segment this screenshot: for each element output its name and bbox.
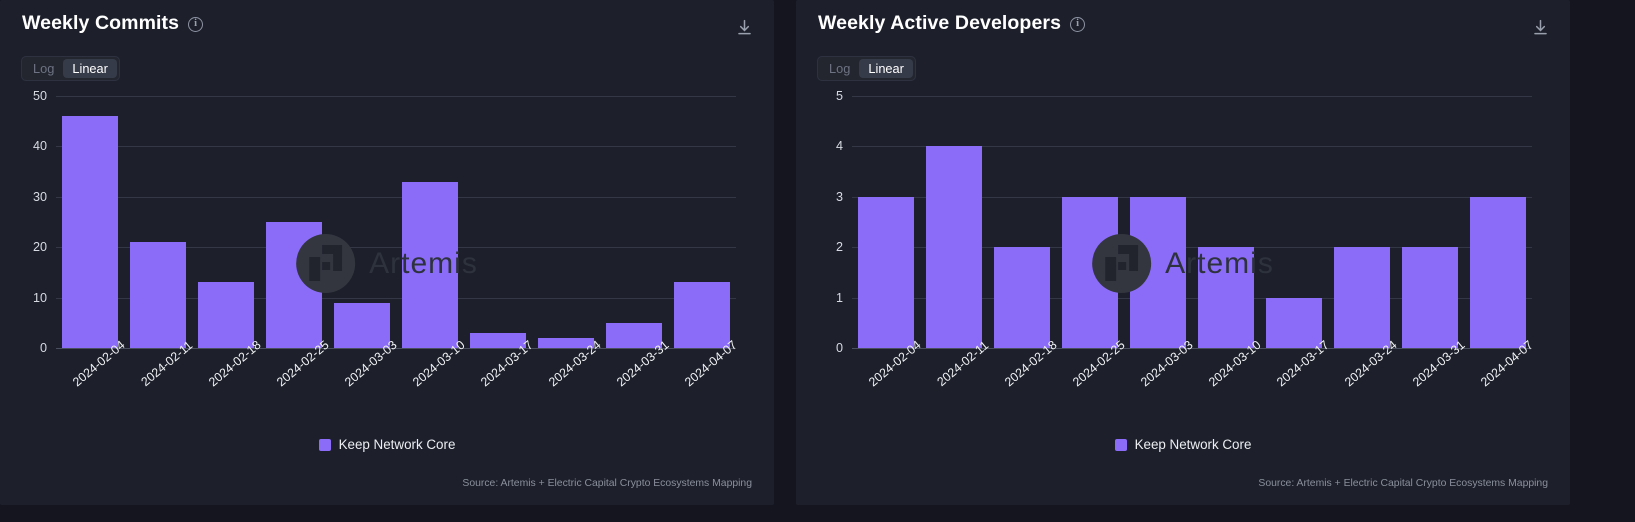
page-title: Weekly Commits (22, 12, 179, 35)
y-axis-tick-label: 30 (33, 190, 47, 204)
bar[interactable] (1334, 247, 1389, 348)
chart-panel-weekly-active-developers: Weekly Active Developers i Log Linear 01… (796, 0, 1570, 505)
x-axis-label-slot: 2024-02-11 (920, 350, 988, 422)
bar[interactable] (926, 146, 981, 348)
y-axis-tick-label: 3 (836, 190, 843, 204)
dashboard-panels: Weekly Commits i Log Linear 01020304050 (0, 0, 1635, 522)
legend-swatch (319, 439, 331, 451)
x-axis-label-slot: 2024-03-10 (1192, 350, 1260, 422)
panel-header: Weekly Commits i (22, 12, 756, 42)
bar-slot[interactable] (532, 96, 600, 348)
grid-and-bars (852, 96, 1532, 348)
y-axis: 012345 (796, 96, 852, 348)
bar[interactable] (402, 182, 457, 348)
info-icon[interactable]: i (188, 17, 203, 32)
bar[interactable] (62, 116, 117, 348)
y-axis-tick-label: 2 (836, 240, 843, 254)
scale-option-log[interactable]: Log (24, 59, 63, 78)
y-axis-tick-label: 50 (33, 89, 47, 103)
x-axis-label-slot: 2024-04-07 (1464, 350, 1532, 422)
y-axis-tick-label: 4 (836, 139, 843, 153)
bar-slot[interactable] (1124, 96, 1192, 348)
bar-slot[interactable] (1260, 96, 1328, 348)
x-axis-labels: 2024-02-042024-02-112024-02-182024-02-25… (56, 350, 736, 422)
x-axis-label-slot: 2024-04-07 (668, 350, 736, 422)
x-axis-label-slot: 2024-03-31 (1396, 350, 1464, 422)
y-axis-tick-label: 0 (40, 341, 47, 355)
scale-toggle-group[interactable]: Log Linear (21, 56, 120, 81)
x-axis-label-slot: 2024-02-04 (56, 350, 124, 422)
bar-slot[interactable] (396, 96, 464, 348)
bar-slot[interactable] (56, 96, 124, 348)
x-axis-label-slot: 2024-02-18 (988, 350, 1056, 422)
bar-slot[interactable] (668, 96, 736, 348)
bar[interactable] (334, 303, 389, 348)
bar[interactable] (1062, 197, 1117, 348)
x-axis-label-slot: 2024-03-31 (600, 350, 668, 422)
legend: Keep Network Core (0, 437, 774, 452)
bar-slot[interactable] (1056, 96, 1124, 348)
bar-slot[interactable] (1328, 96, 1396, 348)
info-icon[interactable]: i (1070, 17, 1085, 32)
bar[interactable] (1130, 197, 1185, 348)
download-icon[interactable] (732, 15, 756, 39)
plot-area: 01020304050 Artemis (0, 96, 774, 348)
bar-slot[interactable] (328, 96, 396, 348)
bar-slot[interactable] (988, 96, 1056, 348)
x-axis-label-slot: 2024-02-11 (124, 350, 192, 422)
bar[interactable] (1470, 197, 1525, 348)
x-axis-label-slot: 2024-03-17 (464, 350, 532, 422)
bar[interactable] (198, 282, 253, 348)
bar-series (56, 96, 736, 348)
bar-series (852, 96, 1532, 348)
bar-slot[interactable] (852, 96, 920, 348)
scale-option-linear[interactable]: Linear (63, 59, 117, 78)
bar-slot[interactable] (920, 96, 988, 348)
x-axis-label-slot: 2024-02-25 (260, 350, 328, 422)
bar[interactable] (994, 247, 1049, 348)
plot-area: 012345 Artemis (796, 96, 1570, 348)
grid-and-bars (56, 96, 736, 348)
legend-item-label[interactable]: Keep Network Core (339, 437, 456, 452)
bar-slot[interactable] (1396, 96, 1464, 348)
y-axis: 01020304050 (0, 96, 56, 348)
download-icon[interactable] (1528, 15, 1552, 39)
title-row: Weekly Active Developers i (818, 12, 1552, 35)
x-axis-label-slot: 2024-03-24 (532, 350, 600, 422)
page-title: Weekly Active Developers (818, 12, 1061, 35)
scale-toggle-group[interactable]: Log Linear (817, 56, 916, 81)
bar[interactable] (266, 222, 321, 348)
scale-option-log[interactable]: Log (820, 59, 859, 78)
y-axis-tick-label: 1 (836, 291, 843, 305)
panel-header: Weekly Active Developers i (818, 12, 1552, 42)
x-axis-label-slot: 2024-03-17 (1260, 350, 1328, 422)
x-axis-label-slot: 2024-03-03 (1124, 350, 1192, 422)
chart-panel-weekly-commits: Weekly Commits i Log Linear 01020304050 (0, 0, 774, 505)
y-axis-tick-label: 20 (33, 240, 47, 254)
bar[interactable] (1402, 247, 1457, 348)
x-axis-label-slot: 2024-02-04 (852, 350, 920, 422)
y-axis-tick-label: 10 (33, 291, 47, 305)
x-axis-label-slot: 2024-02-18 (192, 350, 260, 422)
y-axis-tick-label: 40 (33, 139, 47, 153)
bar-slot[interactable] (600, 96, 668, 348)
bar-slot[interactable] (192, 96, 260, 348)
bar[interactable] (1198, 247, 1253, 348)
source-attribution: Source: Artemis + Electric Capital Crypt… (1258, 478, 1548, 489)
y-axis-tick-label: 5 (836, 89, 843, 103)
x-axis-label-slot: 2024-03-03 (328, 350, 396, 422)
legend: Keep Network Core (796, 437, 1570, 452)
bar[interactable] (674, 282, 729, 348)
bar[interactable] (1266, 298, 1321, 348)
x-axis-label-slot: 2024-03-10 (396, 350, 464, 422)
bar-slot[interactable] (260, 96, 328, 348)
scale-option-linear[interactable]: Linear (859, 59, 913, 78)
x-axis-labels: 2024-02-042024-02-112024-02-182024-02-25… (852, 350, 1532, 422)
bar-slot[interactable] (464, 96, 532, 348)
x-axis-label-slot: 2024-02-25 (1056, 350, 1124, 422)
bar[interactable] (130, 242, 185, 348)
bar-slot[interactable] (1192, 96, 1260, 348)
source-attribution: Source: Artemis + Electric Capital Crypt… (462, 478, 752, 489)
bar-slot[interactable] (124, 96, 192, 348)
legend-swatch (1115, 439, 1127, 451)
legend-item-label[interactable]: Keep Network Core (1135, 437, 1252, 452)
bar-slot[interactable] (1464, 96, 1532, 348)
title-row: Weekly Commits i (22, 12, 756, 35)
y-axis-tick-label: 0 (836, 341, 843, 355)
x-axis-label-slot: 2024-03-24 (1328, 350, 1396, 422)
bar[interactable] (858, 197, 913, 348)
